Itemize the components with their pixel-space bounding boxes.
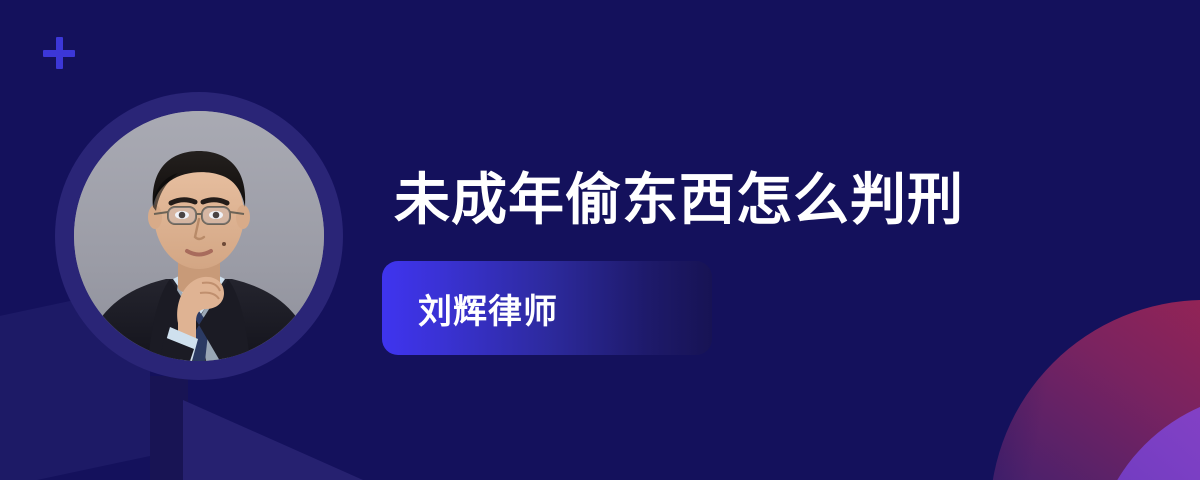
lawyer-name-badge[interactable]: 刘辉律师 [382,261,712,355]
triangle-wedge-shape [183,400,363,480]
violet-circle-shape [1092,392,1200,480]
page-title: 未成年偷东西怎么判刑 [394,166,964,234]
left-strip-shape [150,376,188,480]
crimson-purple-circle-shape [990,300,1200,480]
avatar-ring [55,92,343,380]
plus-icon [43,37,75,69]
circle-fade-veil [870,230,1200,480]
lawyer-qa-banner: 未成年偷东西怎么判刑 刘辉律师 [0,0,1200,480]
lawyer-name-label: 刘辉律师 [418,284,558,333]
avatar [74,111,324,361]
